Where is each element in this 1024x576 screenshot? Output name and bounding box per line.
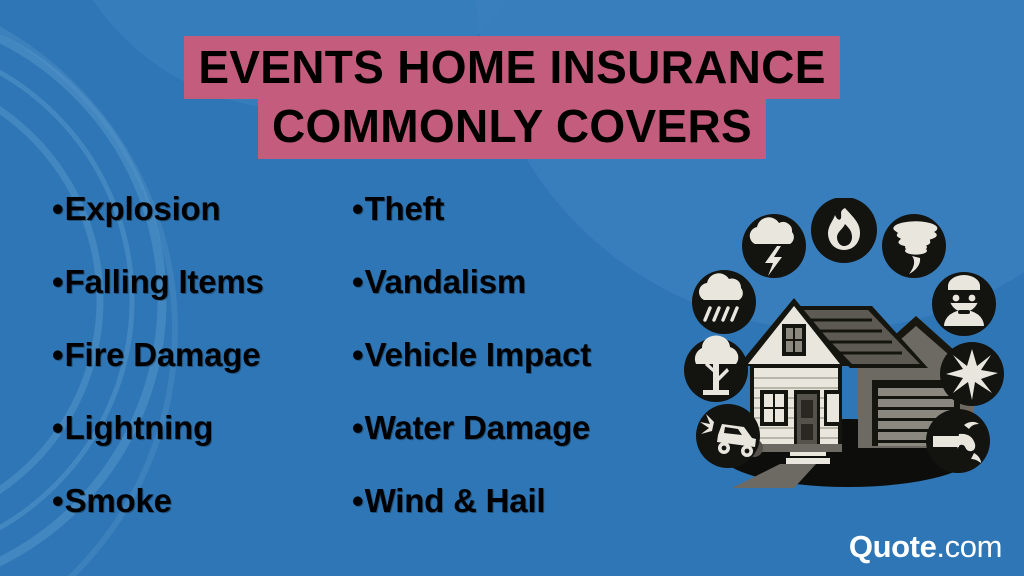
list-item-label: Lightning [65, 411, 213, 444]
title-line-2: COMMONLY COVERS [258, 95, 766, 158]
logo-tld-text: .com [936, 529, 1002, 564]
list-item: • Wind & Hail [352, 484, 692, 557]
fire-flame-icon [811, 198, 877, 263]
rain-cloud-icon [692, 270, 756, 334]
logo-brand-text: Quote [849, 529, 937, 564]
list-item-label: Falling Items [65, 265, 264, 298]
list-item-label: Fire Damage [65, 338, 261, 371]
list-item: • Smoke [52, 484, 362, 557]
explosion-burst-icon [940, 342, 1004, 406]
list-item-label: Vehicle Impact [365, 338, 591, 371]
list-item: • Falling Items [52, 265, 362, 338]
list-item-label: Wind & Hail [365, 484, 546, 517]
list-item: • Lightning [52, 411, 362, 484]
list-item: • Fire Damage [52, 338, 362, 411]
list-item: • Theft [352, 192, 692, 265]
title-line-1: EVENTS HOME INSURANCE [184, 36, 839, 99]
burst-pipe-water-leak-icon [926, 409, 990, 473]
bullet-icon: • [52, 411, 64, 444]
bullet-icon: • [52, 192, 64, 225]
list-item-label: Explosion [65, 192, 221, 225]
tornado-icon [882, 214, 946, 278]
list-item: • Explosion [52, 192, 362, 265]
bullet-icon: • [352, 484, 364, 517]
vehicle-impact-car-icon [696, 404, 760, 468]
covered-events-list-right: • Theft • Vandalism • Vehicle Impact • W… [352, 192, 692, 557]
bullet-icon: • [352, 265, 364, 298]
burglar-thief-icon [932, 272, 996, 336]
list-item-label: Theft [365, 192, 445, 225]
page-title: EVENTS HOME INSURANCE COMMONLY COVERS [0, 36, 1024, 159]
covered-events-list-left: • Explosion • Falling Items • Fire Damag… [52, 192, 362, 557]
list-item: • Vandalism [352, 265, 692, 338]
list-item: • Water Damage [352, 411, 692, 484]
infographic-canvas: EVENTS HOME INSURANCE COMMONLY COVERS • … [0, 0, 1024, 576]
bullet-icon: • [52, 265, 64, 298]
bullet-icon: • [52, 484, 64, 517]
house-perils-illustration [676, 198, 1012, 494]
quote-com-logo[interactable]: Quote.com [849, 531, 1002, 562]
falling-tree-icon [684, 335, 748, 402]
bullet-icon: • [52, 338, 64, 371]
bullet-icon: • [352, 411, 364, 444]
list-item-label: Water Damage [365, 411, 591, 444]
list-item-label: Smoke [65, 484, 172, 517]
bullet-icon: • [352, 338, 364, 371]
bullet-icon: • [352, 192, 364, 225]
list-item-label: Vandalism [365, 265, 526, 298]
storm-lightning-cloud-icon [742, 214, 806, 278]
list-item: • Vehicle Impact [352, 338, 692, 411]
